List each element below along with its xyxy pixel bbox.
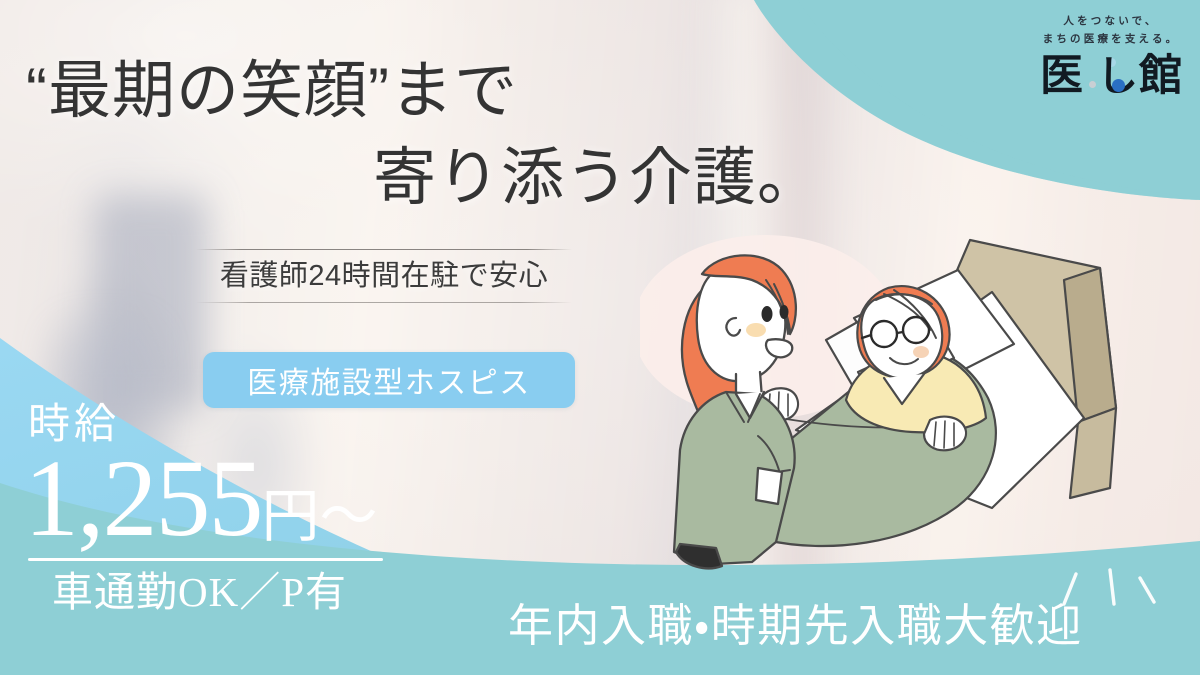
status-badge-label: 医療施設型ホスピス xyxy=(247,358,531,402)
salary-unit: 円～ xyxy=(262,490,378,549)
illustration-sparkles xyxy=(1064,570,1154,604)
salary-amount: 1,255 xyxy=(24,448,262,549)
subtitle-divider-bottom xyxy=(196,302,572,303)
illustration-caregiver-and-patient xyxy=(640,222,1200,642)
salary-note: 車通勤OK／P有 xyxy=(24,561,404,615)
logo-kanji-right: 館 xyxy=(1139,55,1182,98)
logo-dot-blue-icon xyxy=(1112,79,1125,92)
subtitle-text: 看護師24時間在駐で安心 xyxy=(196,250,572,302)
status-badge: 医療施設型ホスピス xyxy=(203,352,575,408)
logo-kanji-left: 医 xyxy=(1040,55,1083,98)
logo-tagline-line-2: まちの医療を支える。 xyxy=(1040,30,1182,48)
headline: “最期の笑顔”まで 寄り添う介護。 xyxy=(0,48,845,222)
logo-dot-grey-icon xyxy=(1089,81,1096,88)
salary-amount-row: 1,255 円～ xyxy=(24,448,404,549)
bottom-cta-text: 年内入職・時期先入職大歓迎 xyxy=(508,602,1083,652)
recruitment-banner: “最期の笑顔”まで 寄り添う介護。 看護師24時間在駐で安心 医療施設型ホスピス… xyxy=(0,0,1200,675)
salary-block: 時給 1,255 円～ 車通勤OK／P有 xyxy=(24,404,404,615)
logo-wordmark: 医 し 館 xyxy=(1040,54,1182,100)
headline-line-2: 寄り添う介護。 xyxy=(0,135,845,222)
logo-dot-cluster: し xyxy=(1086,54,1136,100)
headline-line-1: “最期の笑顔”まで xyxy=(0,48,845,135)
illustration-caregiver xyxy=(674,255,796,568)
logo-tagline-line-1: 人をつないで、 xyxy=(1040,12,1182,30)
subtitle-block: 看護師24時間在駐で安心 xyxy=(196,249,572,303)
logo: 人をつないで、 まちの医療を支える。 医 し 館 xyxy=(1040,12,1182,100)
